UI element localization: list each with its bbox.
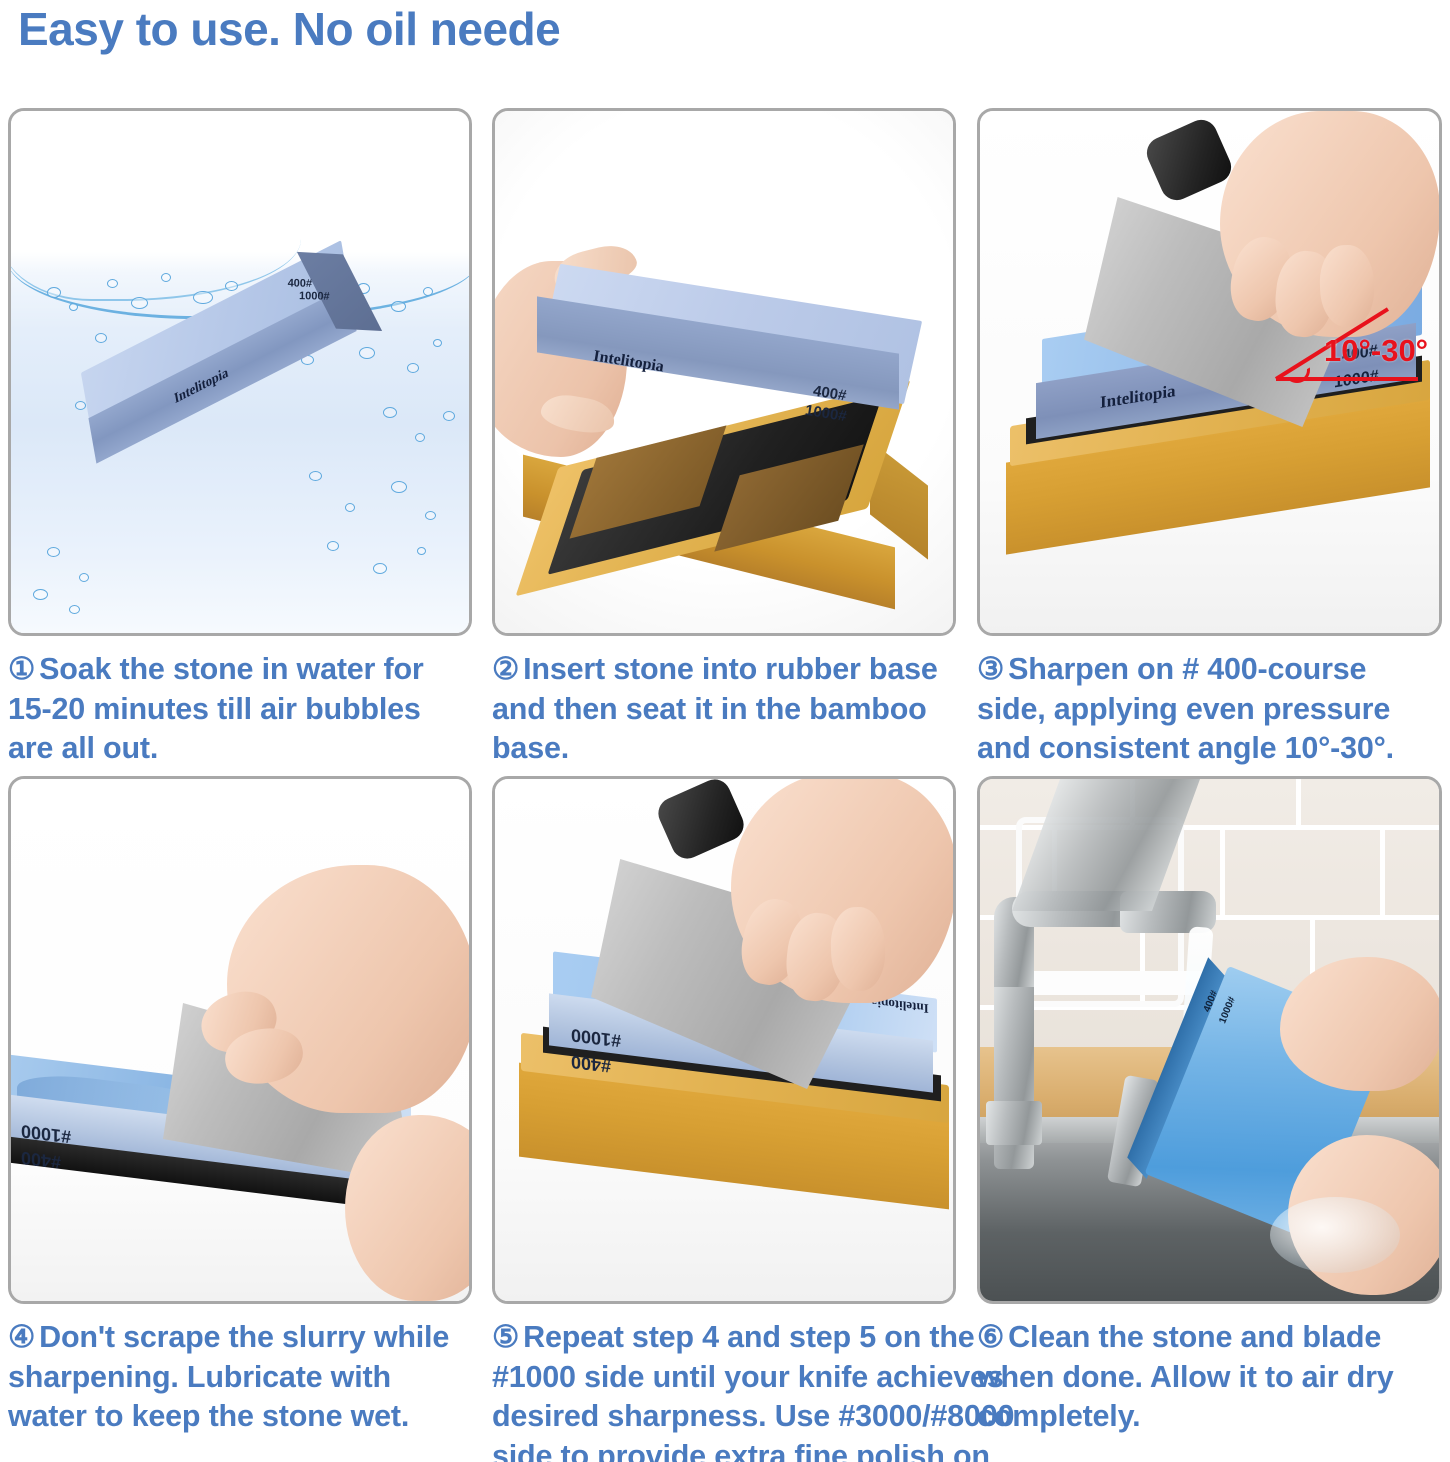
step-2-number: ② [492,652,519,686]
step-5-photo: #1000 #400 Intelitopia [492,776,956,1304]
faucet-base [986,1101,1042,1145]
steps-row-bottom: #1000 #400 Intelitopia ④Don't scrape the… [0,776,1450,1441]
step-6-caption: ⑥Clean the stone and blade when done. Al… [977,1318,1442,1437]
step-4-caption: ④Don't scrape the slurry while sharpenin… [8,1318,472,1437]
step-1-photo: Intelitopia 400# 1000# [8,108,472,636]
page-title: Easy to use. No oil neede [18,2,560,56]
step-5-number: ⑤ [492,1320,519,1354]
step-4-photo: #1000 #400 Intelitopia [8,776,472,1304]
steps-row-top: Intelitopia 400# 1000# ①Soak the stone i… [0,108,1450,768]
step-4-text: Don't scrape the slurry while sharpening… [8,1320,449,1433]
step-3-number: ③ [977,652,1004,686]
stone-grit-400: 400# [288,277,313,289]
step-1-number: ① [8,652,35,686]
step-6-photo: 400# 1000# [977,776,1442,1304]
infographic-page: Easy to use. No oil neede [0,0,1450,1462]
step-3-caption: ③Sharpen on # 400-course side, applying … [977,650,1442,769]
step-4-number: ④ [8,1320,35,1354]
finger [830,906,887,992]
step-6-text: Clean the stone and blade when done. All… [977,1320,1394,1433]
hand-holding-stone-top [1280,957,1442,1091]
step-card-1: Intelitopia 400# 1000# ①Soak the stone i… [8,108,472,769]
water-splash [1270,1197,1400,1273]
dish-rack-shelf [1024,971,1204,995]
step-card-4: #1000 #400 Intelitopia ④Don't scrape the… [8,776,472,1437]
step-2-caption: ②Insert stone into rubber base and then … [492,650,956,769]
tile-grout [1296,779,1301,825]
step-3-text: Sharpen on # 400-course side, applying e… [977,652,1394,765]
tile-grout [1220,825,1225,915]
step-5-text: Repeat step 4 and step 5 on the #1000 si… [492,1320,1014,1462]
finger [1319,244,1376,328]
angle-label: 10°-30° [1324,333,1428,369]
step-card-2: Intelitopia 400# 1000# ②Insert stone int… [492,108,956,769]
step-2-photo: Intelitopia 400# 1000# [492,108,956,636]
steps-grid: Intelitopia 400# 1000# ①Soak the stone i… [0,108,1450,1441]
stone-grit-1000: 1000# [299,290,330,303]
step-5-caption: ⑤Repeat step 4 and step 5 on the #1000 s… [492,1318,1032,1462]
step-2-text: Insert stone into rubber base and then s… [492,652,938,765]
stone-grit-400: #400 [21,1147,61,1173]
step-1-caption: ①Soak the stone in water for 15-20 minut… [8,650,472,769]
step-1-text: Soak the stone in water for 15-20 minute… [8,652,424,765]
tile-grout [1380,825,1385,915]
stone-grit-400: #400 [571,1051,611,1077]
whetstone: Intelitopia 400# 1000# [537,281,909,421]
step-card-6: 400# 1000# ⑥Clean the stone and blade wh… [977,776,1442,1437]
step-card-5: #1000 #400 Intelitopia ⑤Repeat step 4 an… [492,776,956,1462]
step-card-3: Intelitopia 400# 1000# [977,108,1442,769]
step-6-number: ⑥ [977,1320,1004,1354]
step-3-photo: Intelitopia 400# 1000# [977,108,1442,636]
